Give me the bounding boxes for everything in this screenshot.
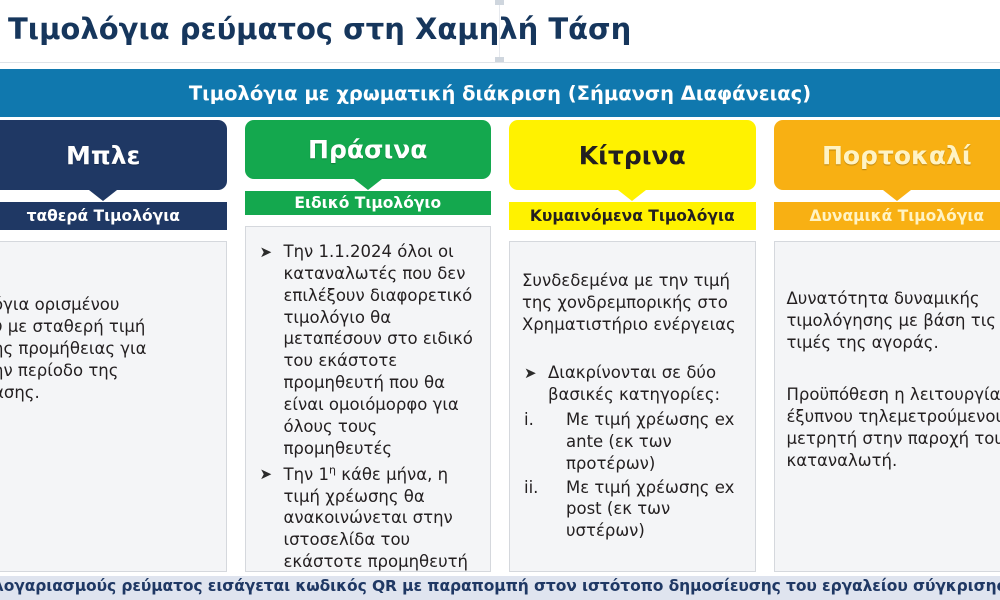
list-item-label: Την 1η κάθε μήνα, η τιμή χρέωσης θα ανακ… — [284, 465, 469, 572]
page-title: Τιμολόγια ρεύματος στη Χαμηλή Τάση — [8, 12, 631, 46]
column-blue-chip[interactable]: Μπλε — [0, 120, 227, 190]
column-yellow-roman-list: i. Με τιμή χρέωσης ex ante (εκ των προτέ… — [522, 409, 743, 543]
column-yellow-chip-label: Κίτρινα — [579, 141, 686, 170]
arrow-bullet-icon: ➤ — [260, 465, 273, 483]
footer-bar: λογαριασμούς ρεύματος εισάγεται κωδικός … — [0, 576, 1000, 600]
column-yellow-strip: Κυμαινόμενα Τιμολόγια — [509, 202, 756, 230]
chevron-down-icon — [89, 190, 117, 201]
column-orange-chip-label: Πορτοκαλί — [822, 141, 972, 170]
column-yellow-intro: Συνδεδεμένα με την τιμή της χονδρεμπορικ… — [522, 270, 743, 336]
column-yellow-chip[interactable]: Κίτρινα — [509, 120, 756, 190]
text-line: όγια ορισμένου — [0, 295, 119, 314]
column-orange-chip[interactable]: Πορτοκαλί — [774, 120, 1000, 190]
column-blue: Μπλε ταθερά Τιμολόγια όγια ορισμένου υ μ… — [0, 120, 227, 572]
column-orange-card: Δυνατότητα δυναμικής τιμολόγησης με βάση… — [774, 241, 1000, 572]
slide-title-area: Τιμολόγια ρεύματος στη Χαμηλή Τάση — [0, 0, 1000, 63]
column-blue-chip-label: Μπλε — [66, 141, 140, 170]
column-green-bullet-list: ➤ Την 1.1.2024 όλοι οι καταναλωτές που δ… — [258, 241, 479, 572]
text-line: ην περίοδο της — [0, 361, 118, 380]
roman-marker: i. — [524, 409, 534, 431]
slide-guide-handle-bottom — [495, 57, 504, 62]
chevron-down-icon — [354, 179, 382, 190]
column-green-chip-label: Πράσινα — [308, 135, 427, 164]
tariff-columns: Μπλε ταθερά Τιμολόγια όγια ορισμένου υ μ… — [0, 120, 1000, 572]
list-item: i. Με τιμή χρέωσης ex ante (εκ των προτέ… — [522, 409, 743, 475]
column-green-chip[interactable]: Πράσινα — [245, 120, 492, 179]
chevron-down-icon — [883, 190, 911, 201]
column-green-strip: Ειδικό Τιμολόγιο — [245, 191, 492, 215]
list-item: ➤ Διακρίνονται σε δύο βασικές κατηγορίες… — [522, 362, 743, 406]
column-blue-strip: ταθερά Τιμολόγια — [0, 202, 227, 230]
chevron-down-icon — [618, 190, 646, 201]
column-orange-strip-label: Δυναμικά Τιμολόγια — [809, 207, 984, 225]
list-item: ii. Με τιμή χρέωσης ex post (εκ των υστέ… — [522, 477, 743, 543]
column-yellow: Κίτρινα Κυμαινόμενα Τιμολόγια Συνδεδεμέν… — [509, 120, 756, 572]
list-item: ➤ Την 1η κάθε μήνα, η τιμή χρέωσης θα αν… — [258, 463, 479, 572]
column-blue-card: όγια ορισμένου υ με σταθερή τιμή ης προμ… — [0, 241, 227, 572]
list-item-label: Διακρίνονται σε δύο βασικές κατηγορίες: — [548, 363, 720, 404]
arrow-bullet-icon: ➤ — [524, 364, 537, 382]
column-orange-strip: Δυναμικά Τιμολόγια — [774, 202, 1000, 230]
column-yellow-bullet-list: ➤ Διακρίνονται σε δύο βασικές κατηγορίες… — [522, 362, 743, 406]
arrow-bullet-icon: ➤ — [260, 243, 273, 261]
roman-marker: ii. — [524, 477, 538, 499]
text-line: ασης. — [0, 383, 40, 402]
section-banner-label: Τιμολόγια με χρωματική διάκριση (Σήμανση… — [189, 82, 811, 105]
list-item: ➤ Την 1.1.2024 όλοι οι καταναλωτές που δ… — [258, 241, 479, 460]
list-item-label: Με τιμή χρέωσης ex ante (εκ των προτέρων… — [566, 410, 734, 473]
column-yellow-strip-label: Κυμαινόμενα Τιμολόγια — [530, 207, 735, 225]
column-green: Πράσινα Ειδικό Τιμολόγιο ➤ Την 1.1.2024 … — [245, 120, 492, 572]
column-blue-text: όγια ορισμένου υ με σταθερή τιμή ης προμ… — [0, 294, 214, 404]
column-yellow-card: Συνδεδεμένα με την τιμή της χονδρεμπορικ… — [509, 241, 756, 572]
text-line: υ με σταθερή τιμή — [0, 317, 145, 336]
slide-guide-handle-top — [495, 0, 504, 5]
column-orange: Πορτοκαλί Δυναμικά Τιμολόγια Δυνατότητα … — [774, 120, 1000, 572]
column-orange-text-1: Δυνατότητα δυναμικής τιμολόγησης με βάση… — [787, 288, 1000, 354]
list-item-label: Με τιμή χρέωσης ex post (εκ των υστέρων) — [566, 478, 734, 541]
column-green-card: ➤ Την 1.1.2024 όλοι οι καταναλωτές που δ… — [245, 226, 492, 572]
column-orange-text-2: Προϋπόθεση η λειτουργία έξυπνου τηλεμετρ… — [787, 384, 1000, 472]
footer-label: λογαριασμούς ρεύματος εισάγεται κωδικός … — [0, 577, 1000, 595]
text-line: ης προμήθειας για — [0, 339, 146, 358]
column-blue-strip-label: ταθερά Τιμολόγια — [27, 207, 180, 225]
list-item-label: Την 1.1.2024 όλοι οι καταναλωτές που δεν… — [284, 242, 473, 458]
column-green-strip-label: Ειδικό Τιμολόγιο — [294, 194, 441, 212]
section-banner: Τιμολόγια με χρωματική διάκριση (Σήμανση… — [0, 69, 1000, 117]
